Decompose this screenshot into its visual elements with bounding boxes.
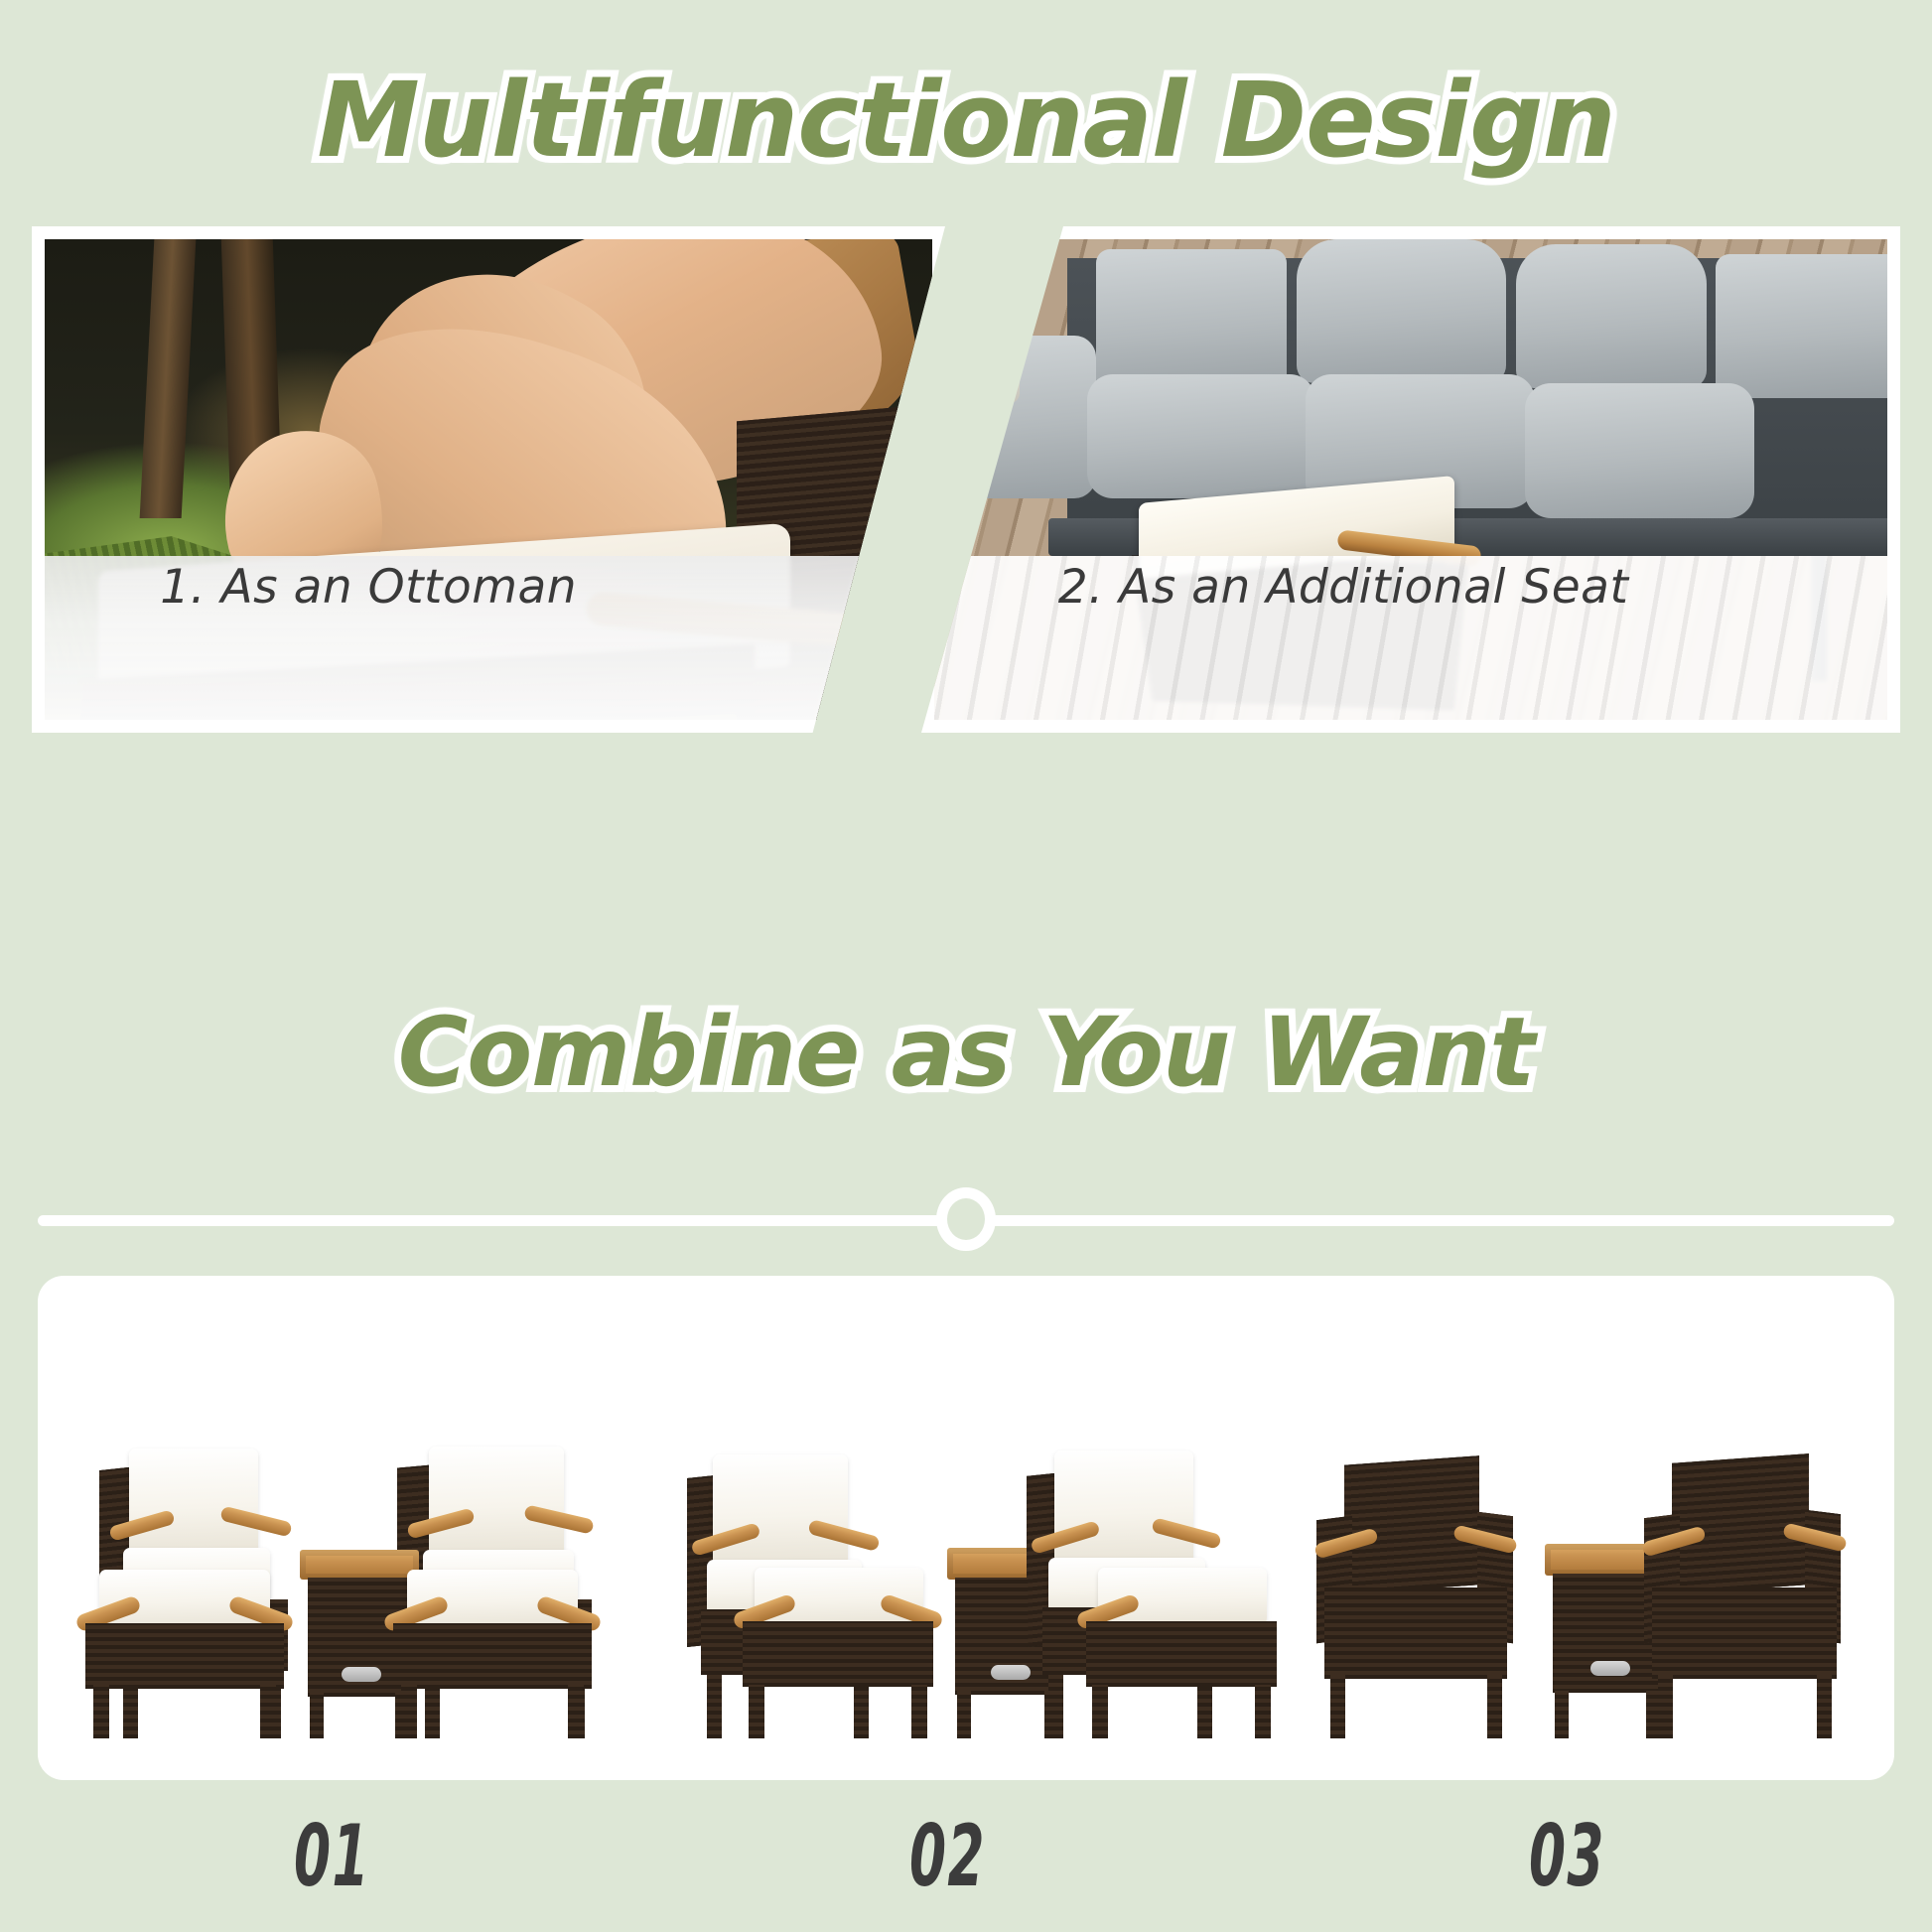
ottoman xyxy=(383,1570,602,1738)
sofa-back-cushion xyxy=(1516,244,1707,388)
ottoman-rattan-base xyxy=(743,1621,933,1687)
ottoman xyxy=(733,1568,943,1738)
vase xyxy=(963,336,1021,403)
table-leg xyxy=(957,1691,971,1738)
back-cushion xyxy=(713,1454,848,1566)
table-leg xyxy=(1555,1689,1569,1738)
sofa-back-cushion xyxy=(1716,254,1887,398)
combination-group-02 xyxy=(673,1381,1229,1738)
back-cushion xyxy=(429,1447,564,1556)
back-cushion xyxy=(1054,1450,1193,1564)
ottoman-leg xyxy=(401,1685,417,1738)
chair-seat-base xyxy=(1324,1587,1507,1679)
panel-caption-1: 1. As an Ottoman xyxy=(160,560,577,615)
page-title-secondary: Combine as You Want xyxy=(0,997,1932,1108)
brand-badge xyxy=(1590,1661,1630,1676)
combinations-card xyxy=(38,1276,1894,1780)
ottoman-leg xyxy=(1092,1685,1108,1738)
photo-extra-seat-use: 2. As an Additional Seat xyxy=(934,239,1887,720)
chair-leg xyxy=(707,1675,722,1738)
ottoman xyxy=(1076,1568,1287,1738)
panel-caption-2: 2. As an Additional Seat xyxy=(1058,560,1629,615)
ottoman-leg xyxy=(911,1685,927,1738)
chair-leg xyxy=(1048,1675,1063,1738)
chair-leg xyxy=(1817,1675,1832,1738)
chair-seat-base xyxy=(1652,1587,1837,1679)
combination-group-01 xyxy=(68,1381,623,1738)
chair-backrest xyxy=(1344,1455,1479,1594)
showcase-panels: 1. As an Ottoman 2. A xyxy=(0,226,1932,733)
armchair-bare xyxy=(1636,1441,1849,1738)
circle-node-icon xyxy=(936,1187,996,1251)
ottoman-leg xyxy=(568,1685,584,1738)
ottoman-leg xyxy=(749,1685,764,1738)
brand-badge xyxy=(342,1667,381,1682)
chair-leg xyxy=(1658,1675,1673,1738)
sofa-arm-cushion xyxy=(963,336,1096,499)
armchair-bare xyxy=(1309,1441,1521,1738)
sofa-seat-cushion xyxy=(1087,374,1315,499)
combination-group-03 xyxy=(1299,1381,1864,1738)
sofa-seat-cushion xyxy=(1525,383,1753,518)
page-title-primary: Multifunctional Design xyxy=(0,62,1932,179)
ottoman-rattan-base xyxy=(85,1623,284,1689)
showcase-panel-ottoman: 1. As an Ottoman xyxy=(32,226,945,733)
ottoman-rattan-base xyxy=(1086,1621,1277,1687)
sofa-back-cushion xyxy=(1096,249,1287,393)
back-cushion xyxy=(129,1449,258,1556)
chair-leg xyxy=(1330,1675,1345,1738)
ottoman-rattan-base xyxy=(393,1623,592,1689)
combination-number-02: 02 xyxy=(909,1807,986,1906)
showcase-panel-extra-seat: 2. As an Additional Seat xyxy=(921,226,1900,733)
photo-ottoman-use: 1. As an Ottoman xyxy=(45,239,932,720)
combination-number-01: 01 xyxy=(294,1807,370,1906)
sofa-back-cushion xyxy=(1297,239,1506,383)
ottoman-leg xyxy=(93,1685,109,1738)
combination-number-03: 03 xyxy=(1529,1807,1605,1906)
flower-pot xyxy=(953,249,1038,345)
table-leg xyxy=(310,1693,324,1738)
section-divider xyxy=(0,1189,1932,1259)
chair-leg xyxy=(1487,1675,1502,1738)
ottoman-leg xyxy=(1255,1685,1271,1738)
ottoman-leg xyxy=(260,1685,276,1738)
ottoman xyxy=(75,1570,294,1738)
